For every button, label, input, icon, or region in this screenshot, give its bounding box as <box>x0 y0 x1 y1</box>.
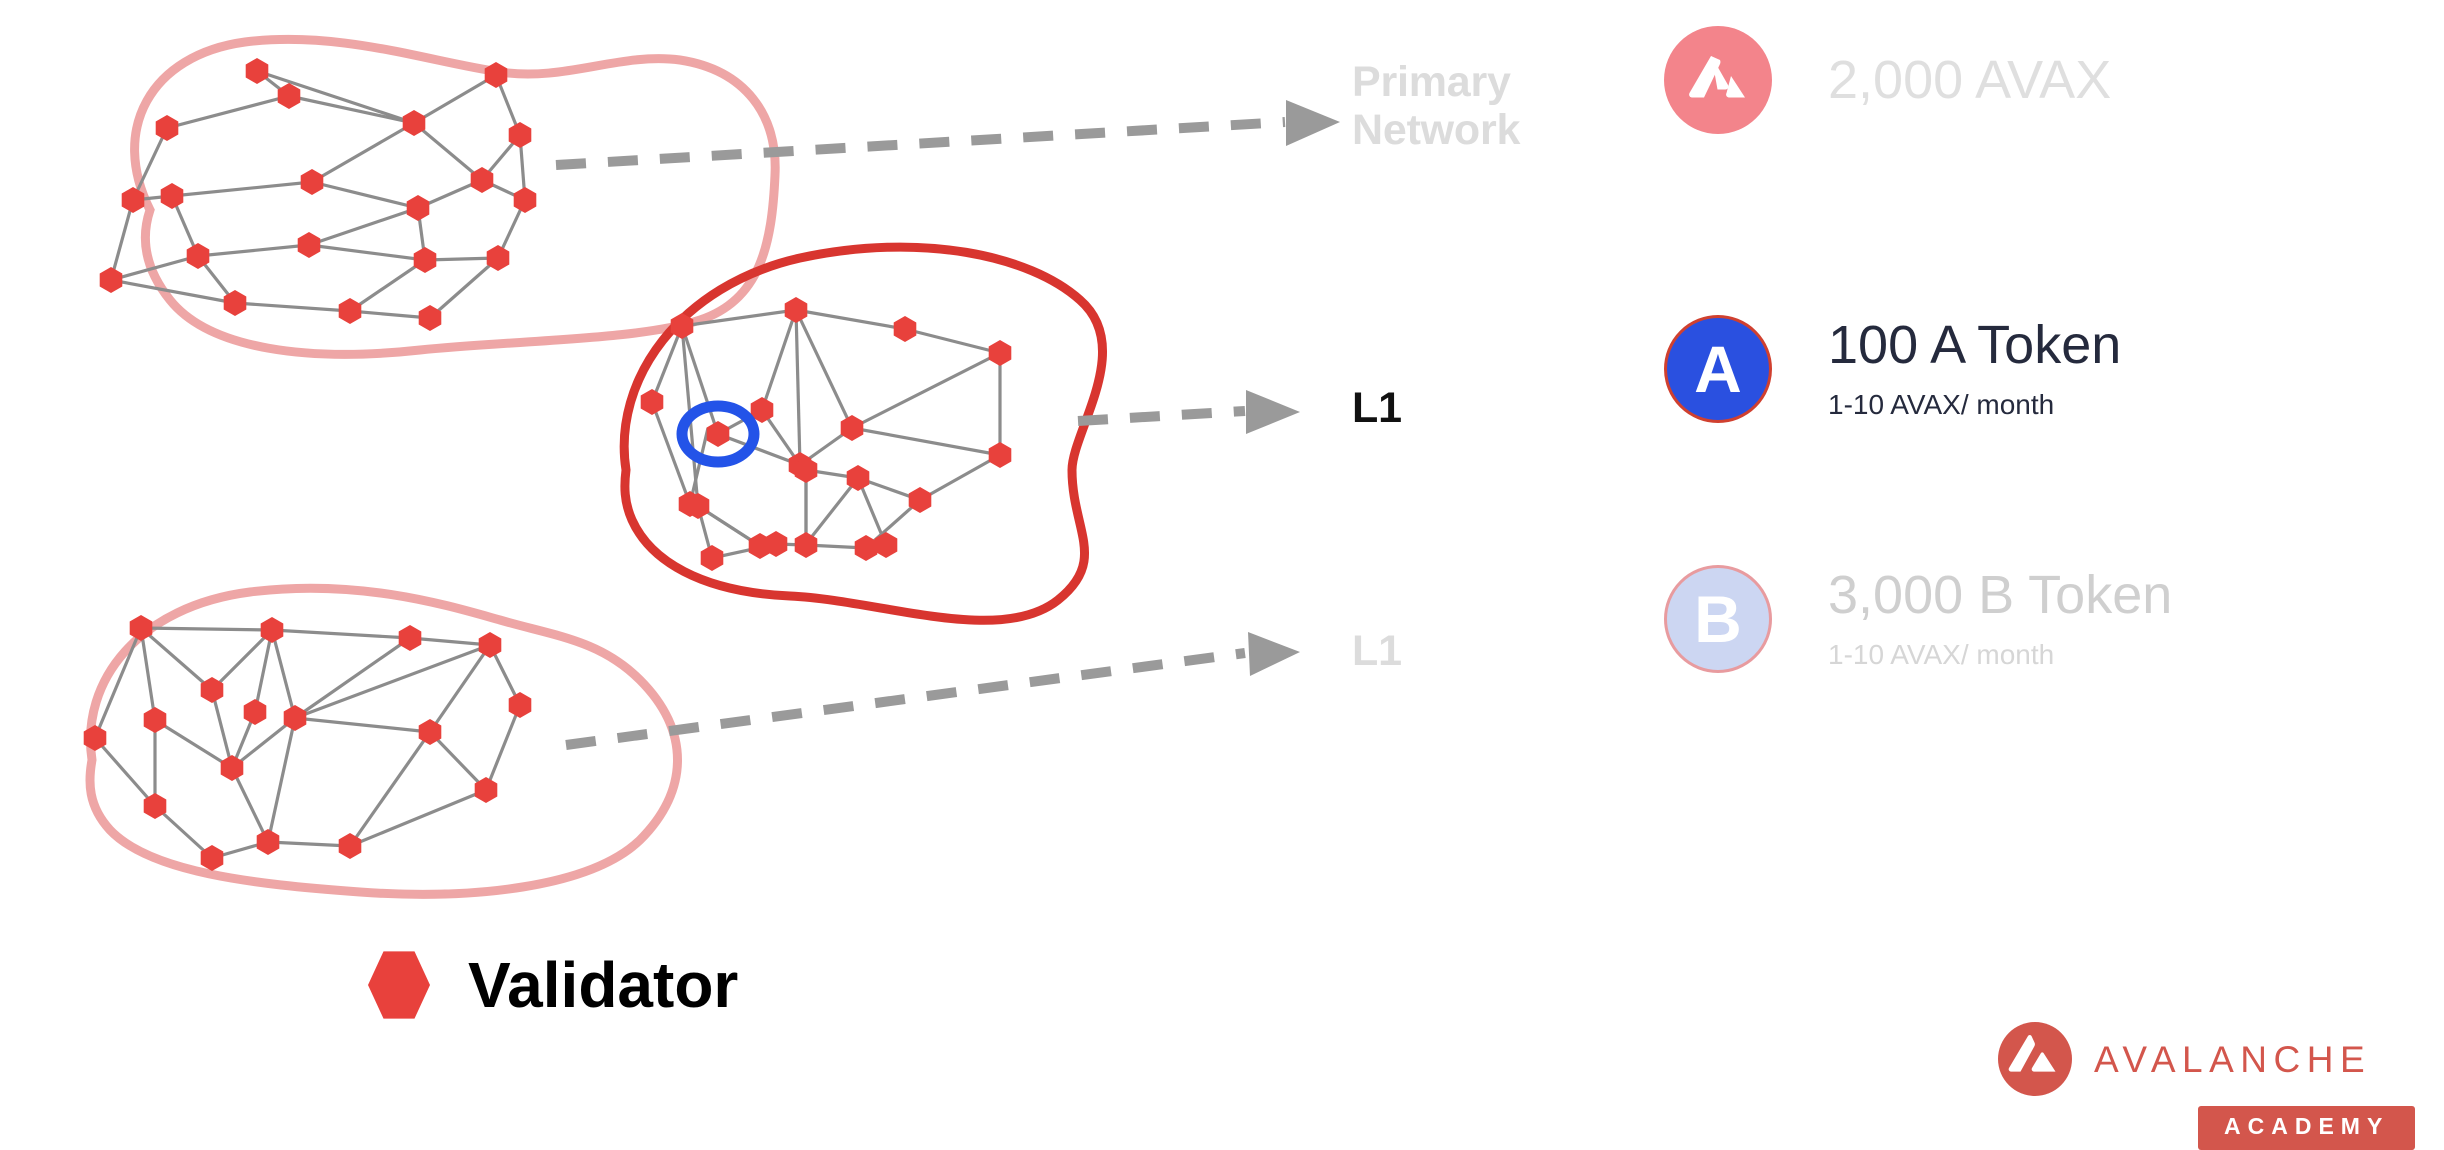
l1-a-edges <box>652 310 1000 558</box>
l1-b-edges <box>95 628 520 858</box>
token-b-letter: B <box>1694 586 1742 652</box>
validator-legend-label: Validator <box>468 953 738 1017</box>
flow-arrow-l1-a <box>1078 390 1300 434</box>
token-title: 2,000 AVAX <box>1828 52 2111 109</box>
token-a-badge: A <box>1664 315 1772 423</box>
token-title: 3,000 B Token <box>1828 567 2172 624</box>
l1-a-nodes <box>641 297 1012 571</box>
flow-label-primary-network: Primary Network <box>1352 58 1520 154</box>
diagram-canvas: Primary Network L1 L1 2,000 AVAX A 100 A… <box>0 0 2444 1148</box>
academy-badge: ACADEMY <box>2198 1106 2415 1150</box>
flow-arrow-l1-b <box>566 632 1300 745</box>
avalanche-logo-icon <box>1998 1022 2072 1096</box>
token-row-primary-network: 2,000 AVAX <box>1664 26 2111 134</box>
logo-top-row: AVALANCHE <box>1998 1022 2415 1096</box>
flow-label-l1-a: L1 <box>1352 384 1402 432</box>
flow-label-l1-b: L1 <box>1352 627 1402 675</box>
token-subtitle: 1-10 AVAX/ month <box>1828 390 2121 421</box>
avax-logo-icon <box>1664 26 1772 134</box>
validator-legend: Validator <box>368 950 738 1020</box>
l1-a-graph <box>624 247 1102 620</box>
l1-a-boundary <box>624 247 1102 620</box>
token-subtitle: 1-10 AVAX/ month <box>1828 640 2172 671</box>
token-row-l1-b: B 3,000 B Token 1-10 AVAX/ month <box>1664 565 2172 673</box>
hexagon-icon <box>368 950 430 1020</box>
token-text-primary-network: 2,000 AVAX <box>1828 52 2111 109</box>
token-text-l1-b: 3,000 B Token 1-10 AVAX/ month <box>1828 567 2172 670</box>
token-b-badge: B <box>1664 565 1772 673</box>
avalanche-wordmark: AVALANCHE <box>2094 1041 2371 1078</box>
token-row-l1-a: A 100 A Token 1-10 AVAX/ month <box>1664 315 2121 423</box>
flow-arrow-primary-network <box>556 100 1340 165</box>
token-text-l1-a: 100 A Token 1-10 AVAX/ month <box>1828 317 2121 420</box>
token-title: 100 A Token <box>1828 317 2121 374</box>
primary-network-graph <box>100 39 775 354</box>
academy-badge-label: ACADEMY <box>2224 1113 2389 1139</box>
avalanche-academy-logo: AVALANCHE ACADEMY <box>1998 1022 2415 1150</box>
token-a-letter: A <box>1694 336 1742 402</box>
